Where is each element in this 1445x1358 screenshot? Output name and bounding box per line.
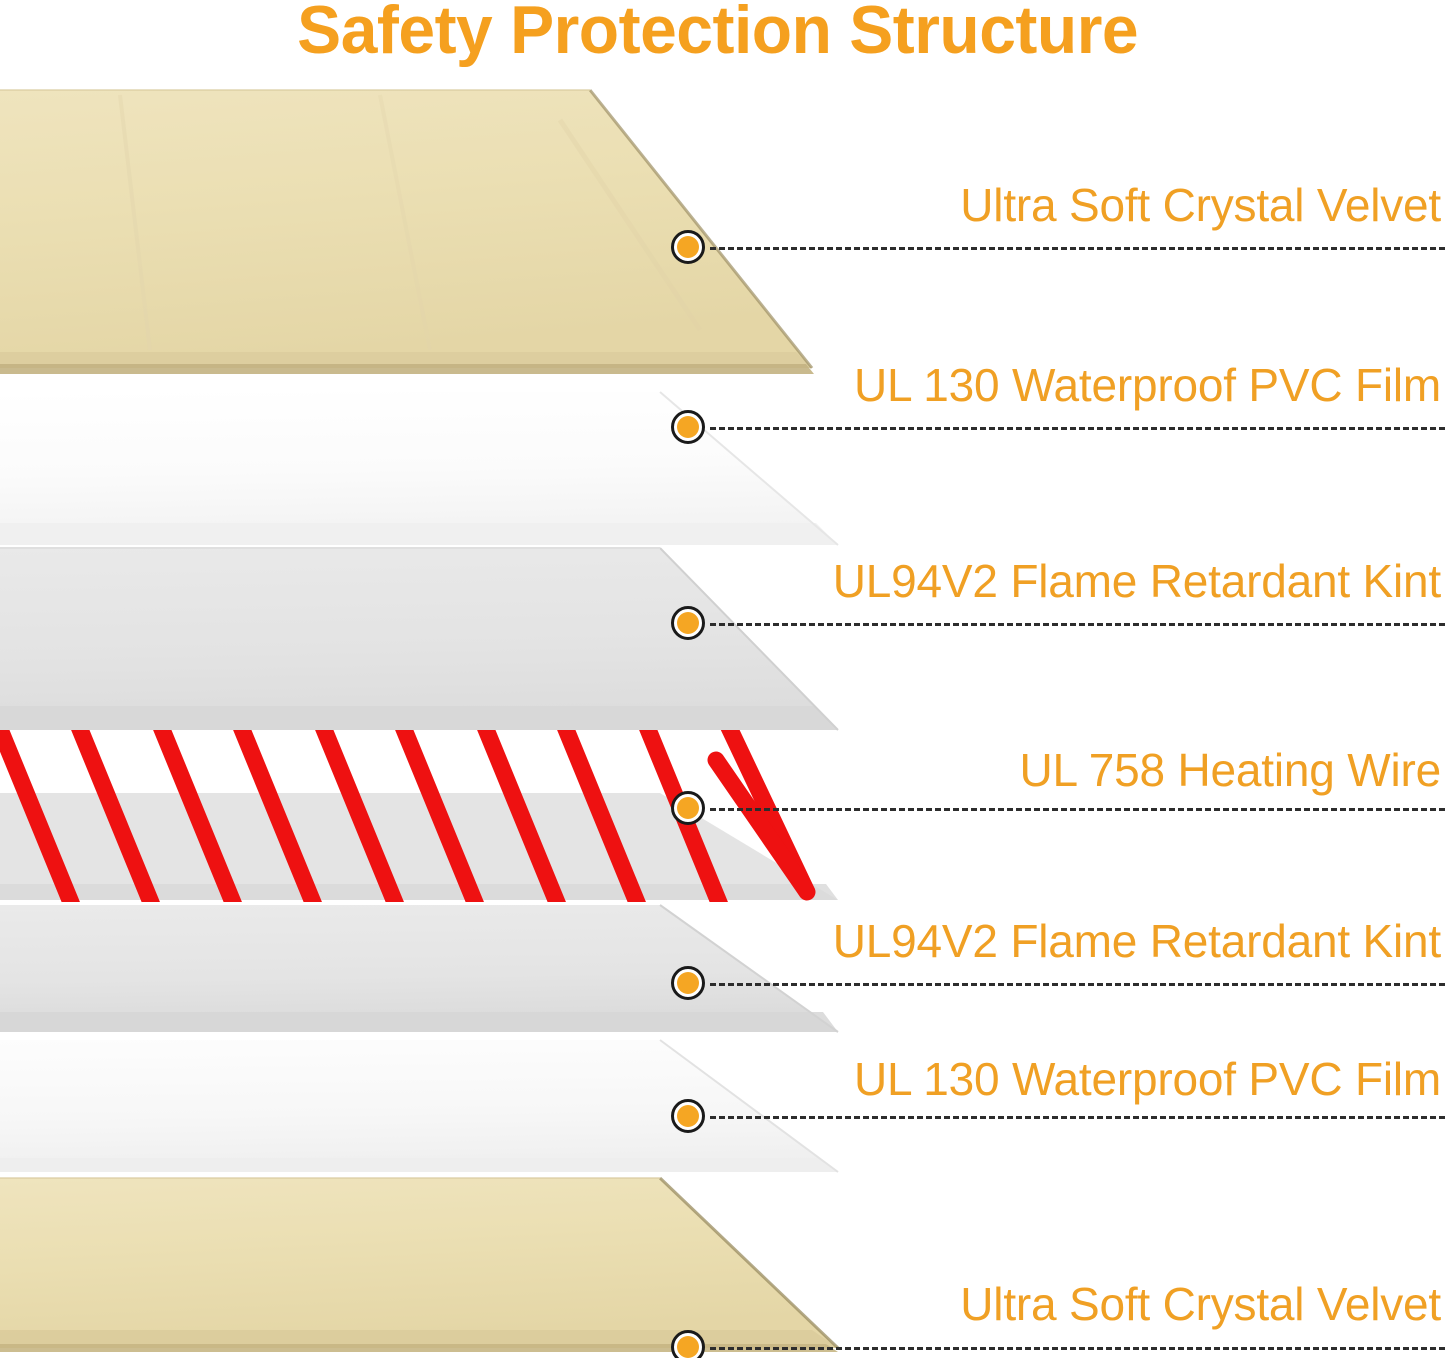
callout-dot-pvc-bottom[interactable] [671, 1099, 705, 1133]
callout-dot-knit-top[interactable] [671, 606, 705, 640]
leader-line-knit-top [710, 623, 1445, 626]
layer-label-pvc-top: UL 130 Waterproof PVC Film [854, 362, 1441, 408]
callout-dot-velvet-bottom[interactable] [671, 1330, 705, 1358]
callout-dot-pvc-top[interactable] [671, 410, 705, 444]
leader-line-velvet-bottom [710, 1347, 1445, 1350]
layer-label-velvet-top: Ultra Soft Crystal Velvet [960, 182, 1441, 228]
layer-label-pvc-bottom: UL 130 Waterproof PVC Film [854, 1056, 1441, 1102]
leader-line-knit-bottom [710, 983, 1445, 986]
layer-label-knit-bottom: UL94V2 Flame Retardant Kint [833, 918, 1441, 964]
layer-velvet-bottom-shape [0, 1178, 838, 1352]
leader-line-pvc-top [710, 427, 1445, 430]
layer-label-velvet-bottom: Ultra Soft Crystal Velvet [960, 1281, 1441, 1327]
callout-dot-velvet-top[interactable] [671, 230, 705, 264]
layer-pvc-bottom-shape [0, 1040, 838, 1172]
layer-knit-top-shape [0, 548, 838, 730]
layer-label-heating-wire: UL 758 Heating Wire [1020, 747, 1441, 793]
callout-dot-heating-wire[interactable] [671, 791, 705, 825]
callout-dot-knit-bottom[interactable] [671, 966, 705, 1000]
leader-line-heating-wire [710, 808, 1445, 811]
leader-line-pvc-bottom [710, 1116, 1445, 1119]
leader-line-velvet-top [710, 247, 1445, 250]
page-title: Safety Protection Structure [22, 0, 1424, 64]
layer-label-knit-top: UL94V2 Flame Retardant Kint [833, 558, 1441, 604]
layer-pvc-top-shape [0, 392, 838, 545]
safety-protection-structure-infographic: Safety Protection Structure Ultra Soft C… [0, 0, 1445, 1358]
layer-knit-bottom-shape [0, 905, 838, 1032]
